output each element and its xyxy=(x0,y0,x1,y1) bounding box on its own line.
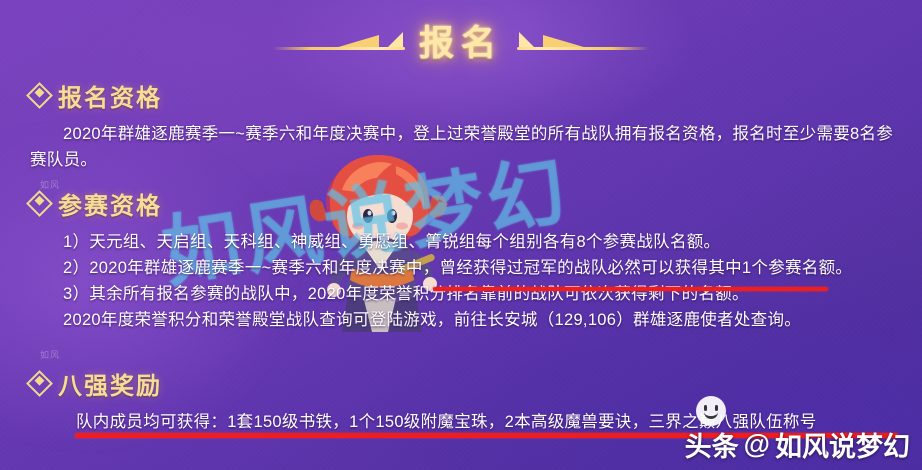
section-heading-row: 参赛资格 xyxy=(0,186,922,221)
promo-banner: 报名 xyxy=(0,0,922,470)
section-body: 2020年群雄逐鹿赛季一~赛季六和年度决赛中，登上过荣誉殿堂的所有战队拥有报名资… xyxy=(0,119,922,173)
smiley-face-icon xyxy=(696,396,726,426)
list-item: 1）天元组、天启组、天科组、神威组、勇愿组、箐锐组每个组别各有8个参赛战队名额。 xyxy=(30,229,900,255)
list-item: 2）2020年群雄逐鹿赛季一~赛季六和年度决赛中，曾经获得过冠军的战队必然可以获… xyxy=(30,255,900,281)
section-registration-eligibility: 报名资格 2020年群雄逐鹿赛季一~赛季六和年度决赛中，登上过荣誉殿堂的所有战队… xyxy=(0,78,922,173)
watermark-author-name: 如风说梦幻 xyxy=(775,425,910,464)
title-ornament-right-icon xyxy=(517,23,649,57)
content-body: 报名资格 2020年群雄逐鹿赛季一~赛季六和年度决赛中，登上过荣誉殿堂的所有战队… xyxy=(0,78,922,435)
diamond-bullet-icon xyxy=(26,82,53,109)
diamond-bullet-icon xyxy=(26,370,53,397)
diamond-bullet-icon xyxy=(26,190,53,217)
list-item: 3）其余所有报名参赛的战队中，2020年度荣誉积分排名靠前的战队可依次获得剩下的… xyxy=(30,281,900,307)
watermark-at-symbol: @ xyxy=(744,429,770,460)
watermark-platform-label: 头条 xyxy=(685,425,739,464)
paragraph: 2020年群雄逐鹿赛季一~赛季六和年度决赛中，登上过荣誉殿堂的所有战队拥有报名资… xyxy=(30,121,900,173)
title-ornament-left-icon xyxy=(273,23,405,57)
section-body: 1）天元组、天启组、天科组、神威组、勇愿组、箐锐组每个组别各有8个参赛战队名额。… xyxy=(0,227,922,333)
banner-title-row: 报名 xyxy=(0,12,922,68)
paragraph: 2020年度荣誉积分和荣誉殿堂战队查询可登陆游戏，前往长安城（129,106）群… xyxy=(30,307,900,333)
section-title: 报名资格 xyxy=(58,78,162,113)
section-title: 参赛资格 xyxy=(58,186,162,221)
red-underline-annotation-1 xyxy=(433,287,828,291)
page-title: 报名 xyxy=(415,15,507,66)
section-heading-row: 八强奖励 xyxy=(0,366,922,401)
section-competition-eligibility: 参赛资格 1）天元组、天启组、天科组、神威组、勇愿组、箐锐组每个组别各有8个参赛… xyxy=(0,186,922,333)
section-title: 八强奖励 xyxy=(58,366,162,401)
section-heading-row: 报名资格 xyxy=(0,78,922,113)
author-watermark: 头条 @ 如风说梦幻 xyxy=(685,425,910,464)
